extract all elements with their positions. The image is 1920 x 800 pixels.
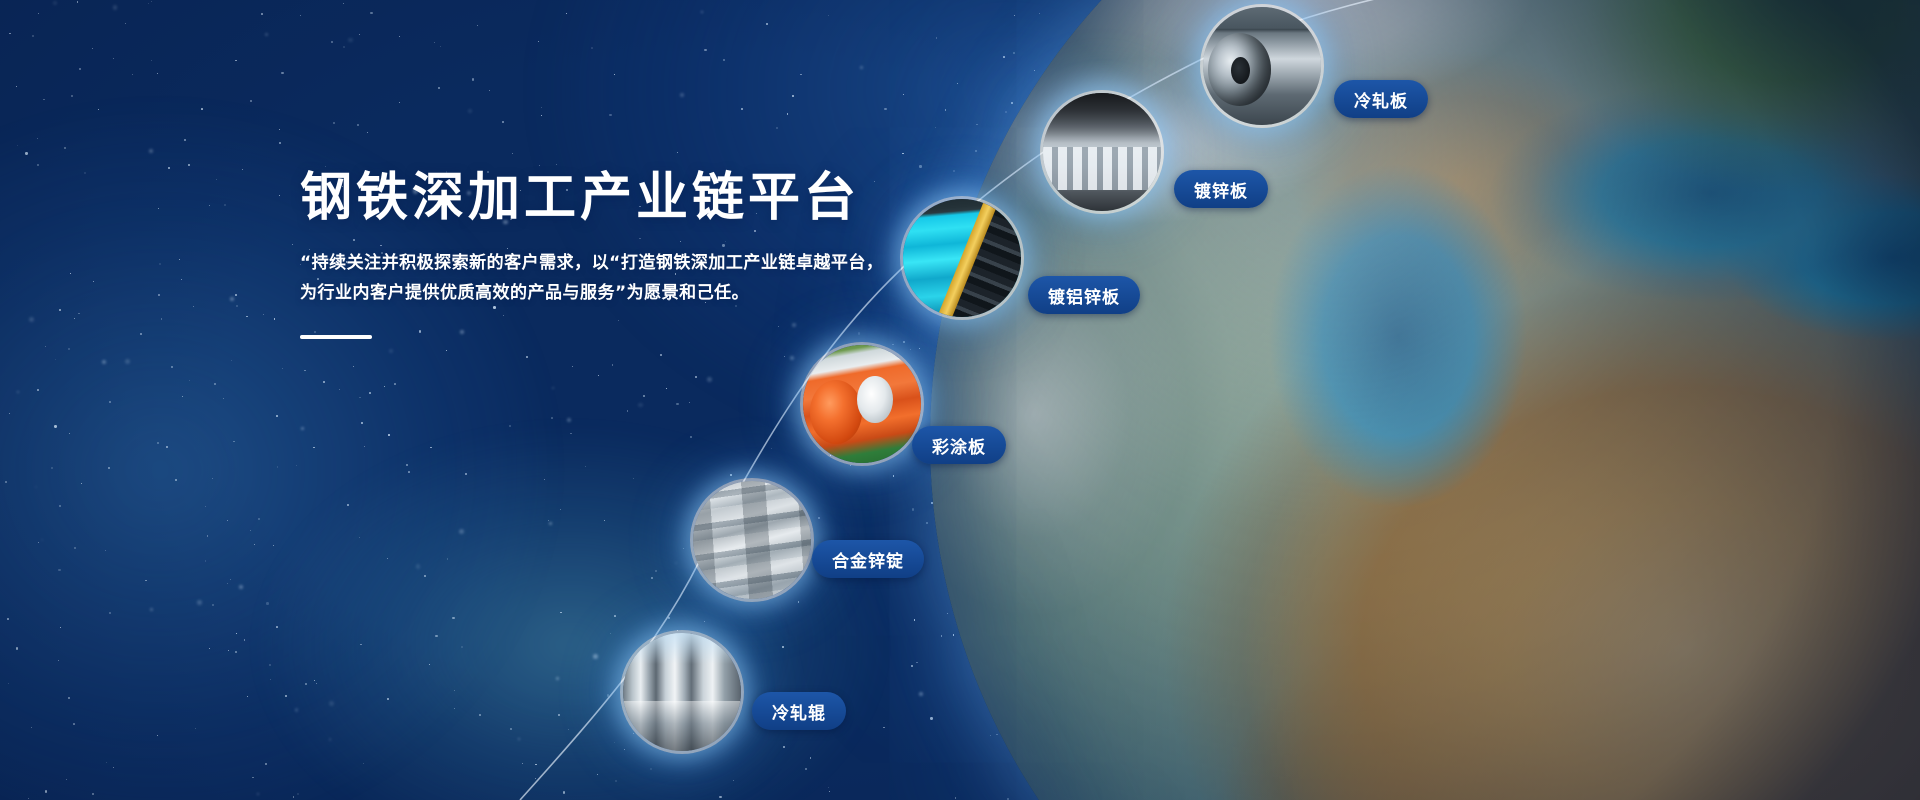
thumb-galvanized-warehouse[interactable] bbox=[1040, 90, 1164, 214]
hero-subtitle-line-2: 为行业内客户提供优质高效的产品与服务”为愿景和己任。 bbox=[300, 279, 940, 309]
thumb-chrome-rolls[interactable] bbox=[620, 630, 744, 754]
color-coated-coils-photo bbox=[803, 345, 921, 463]
chrome-work-rolls-photo bbox=[623, 633, 741, 751]
thumb-color-coated-coils[interactable] bbox=[800, 342, 924, 466]
galvanized-coil-warehouse-photo bbox=[1043, 93, 1161, 211]
hero-subtitle-line-1: “持续关注并积极探索新的客户需求，以“打造钢铁深加工产业链卓越平台， bbox=[300, 249, 940, 279]
page-title: 钢铁深加工产业链平台 bbox=[300, 170, 940, 227]
label-cold-rolled-sheet[interactable]: 冷轧板 bbox=[1334, 80, 1428, 118]
label-color-coated-sheet[interactable]: 彩涂板 bbox=[912, 426, 1006, 464]
zinc-ingot-stacks-photo bbox=[693, 481, 811, 599]
label-cold-roll-roller[interactable]: 冷轧辊 bbox=[752, 692, 846, 730]
label-galvalume-sheet[interactable]: 镀铝锌板 bbox=[1028, 276, 1140, 314]
label-galvanized-sheet[interactable]: 镀锌板 bbox=[1174, 170, 1268, 208]
label-zinc-alloy-ingot[interactable]: 合金锌锭 bbox=[812, 540, 924, 578]
hero-copy: 钢铁深加工产业链平台 “持续关注并积极探索新的客户需求，以“打造钢铁深加工产业链… bbox=[300, 170, 940, 339]
steel-coils-photo bbox=[1203, 7, 1321, 125]
hero-banner: 冷轧板 镀锌板 镀铝锌板 彩涂板 合金锌锭 冷轧辊 钢铁深加工 bbox=[0, 0, 1920, 800]
title-divider bbox=[300, 335, 372, 339]
thumb-zinc-ingots[interactable] bbox=[690, 478, 814, 602]
hero-subtitle: “持续关注并积极探索新的客户需求，以“打造钢铁深加工产业链卓越平台， 为行业内客… bbox=[300, 249, 940, 309]
thumb-steel-coils[interactable] bbox=[1200, 4, 1324, 128]
